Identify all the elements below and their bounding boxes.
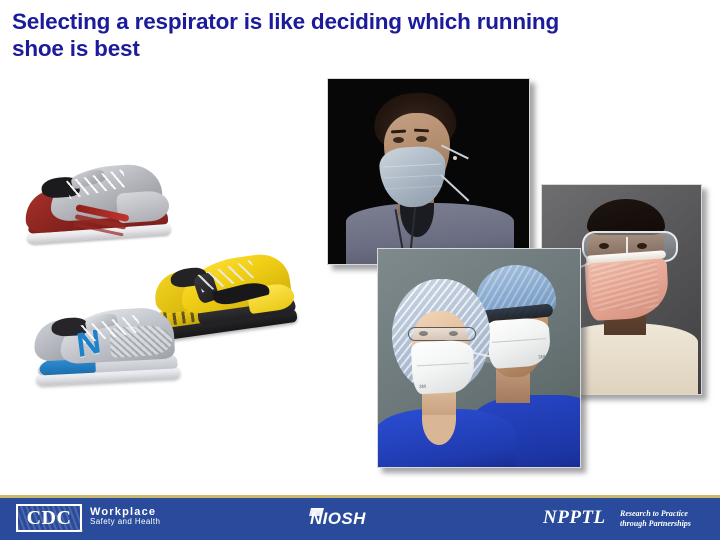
safety-glasses	[408, 327, 476, 341]
cdc-logo-text: CDC	[27, 507, 72, 530]
cdc-logo: CDC	[16, 504, 82, 532]
slide: Selecting a respirator is like deciding …	[0, 0, 720, 540]
photo-nurse-surgical-mask	[327, 78, 530, 265]
cdc-tagline-line1: Workplace	[90, 507, 160, 517]
photo-two-workers-n95: 3M 3M	[377, 248, 581, 468]
npptl-tagline: Research to Practice through Partnership…	[620, 509, 712, 528]
earring	[453, 156, 457, 160]
cdc-tagline-line2: Safety and Health	[90, 517, 160, 527]
3m-brand-mark: 3M	[419, 384, 426, 390]
eye	[599, 243, 609, 249]
footer-bar: CDC ™ Workplace Safety and Health NIOSH …	[0, 498, 720, 540]
surgical-mask	[378, 145, 447, 208]
n95-respirator: 3M	[411, 339, 476, 394]
niosh-logo-text: NIOSH	[310, 509, 366, 529]
npptl-tagline-line2: through Partnerships	[620, 519, 712, 529]
n95-respirator: 3M	[486, 317, 551, 369]
n95-duckbill-respirator	[584, 255, 669, 321]
3m-brand-mark: 3M	[538, 354, 545, 360]
hair	[587, 199, 665, 235]
npptl-tagline-line1: Research to Practice	[620, 509, 712, 519]
respirator-seam	[417, 363, 469, 367]
running-shoe-new-balance-image: N	[28, 284, 185, 388]
mask-ear-loop	[441, 174, 470, 201]
eye	[393, 137, 404, 143]
running-shoe-asics-image	[17, 138, 176, 248]
eye	[416, 136, 427, 142]
npptl-logo-text: NPPTL	[543, 507, 606, 529]
page-title: Selecting a respirator is like deciding …	[12, 8, 612, 62]
respirator-seam	[492, 338, 546, 343]
cdc-trademark-symbol: ™	[78, 529, 83, 535]
eye	[637, 243, 647, 249]
cdc-tagline: Workplace Safety and Health	[90, 507, 160, 527]
